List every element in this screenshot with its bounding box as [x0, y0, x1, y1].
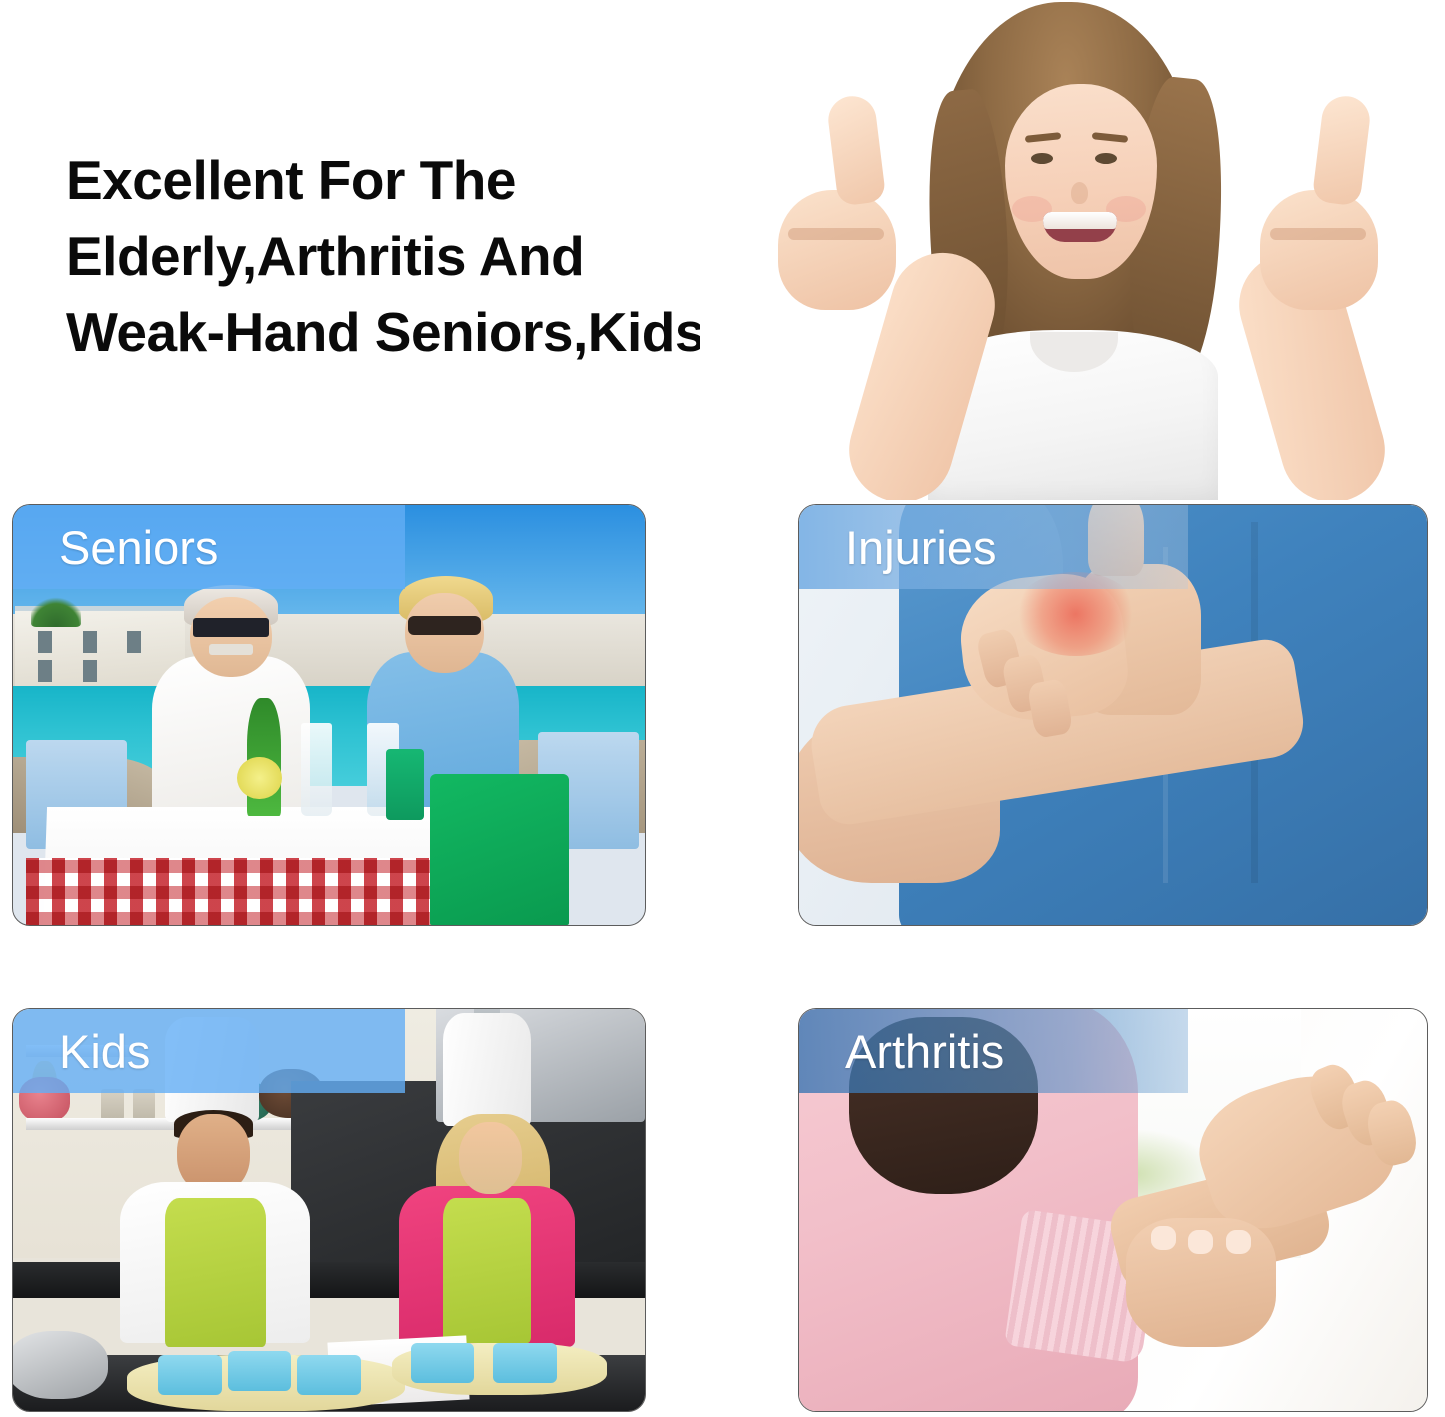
building-window — [127, 631, 141, 653]
mixing-bowl — [12, 1331, 108, 1399]
building-window — [38, 631, 52, 653]
knuckles-right — [1270, 228, 1366, 240]
badge-label: Seniors — [13, 524, 218, 571]
page-title: Excellent For The Elderly,Arthritis And … — [66, 142, 796, 370]
building-window — [83, 631, 97, 653]
fist-right — [1260, 190, 1378, 310]
green-can — [386, 749, 424, 820]
green-tote-bag — [430, 774, 569, 925]
badge-seniors: Seniors — [13, 505, 405, 589]
lemon-slice — [237, 757, 281, 799]
badge-injuries: Injuries — [799, 505, 1188, 589]
blue-cookie-cutter — [493, 1343, 556, 1383]
panel-seniors[interactable]: Seniors — [12, 504, 646, 926]
senior-man-face — [190, 597, 272, 677]
badge-label: Kids — [13, 1028, 150, 1075]
gingham-tablecloth — [26, 858, 468, 925]
sunglasses-man — [193, 618, 269, 636]
panel-injuries[interactable]: Injuries — [798, 504, 1428, 926]
boy-green-apron — [165, 1198, 266, 1347]
building-window — [38, 660, 52, 682]
panel-kids[interactable]: Kids — [12, 1008, 646, 1412]
blue-cookie-cutter — [297, 1355, 360, 1395]
moustache — [209, 644, 253, 655]
blue-cookie-cutter — [228, 1351, 291, 1391]
badge-label: Arthritis — [799, 1028, 1004, 1075]
girl-green-apron — [443, 1198, 531, 1343]
girl-face — [459, 1122, 522, 1194]
eye-right — [1095, 153, 1117, 164]
building-window — [83, 660, 97, 682]
fingernail — [1226, 1230, 1251, 1254]
drinking-glass — [301, 723, 333, 815]
fist-left — [778, 190, 896, 310]
knuckles-left — [788, 228, 884, 240]
eye-left — [1031, 153, 1053, 164]
nose-shape — [1071, 182, 1088, 204]
thumbs-up-icon-right — [1312, 93, 1373, 206]
product-feature-infographic: Excellent For The Elderly,Arthritis And … — [0, 0, 1445, 1417]
blue-cookie-cutter — [158, 1355, 221, 1395]
badge-arthritis: Arthritis — [799, 1009, 1188, 1093]
panel-arthritis[interactable]: Arthritis — [798, 1008, 1428, 1412]
sunglasses-woman — [408, 616, 481, 634]
chef-hat-girl — [443, 1013, 531, 1126]
badge-label: Injuries — [799, 524, 997, 571]
badge-kids: Kids — [13, 1009, 405, 1093]
palm-tree — [31, 593, 81, 627]
smiling-mouth — [1043, 212, 1117, 242]
fingernail — [1151, 1226, 1176, 1250]
fingernail — [1188, 1230, 1213, 1254]
teeth-shape — [1043, 212, 1117, 229]
girl-thumbs-up-photo — [700, 0, 1445, 500]
blue-cookie-cutter — [411, 1343, 474, 1383]
